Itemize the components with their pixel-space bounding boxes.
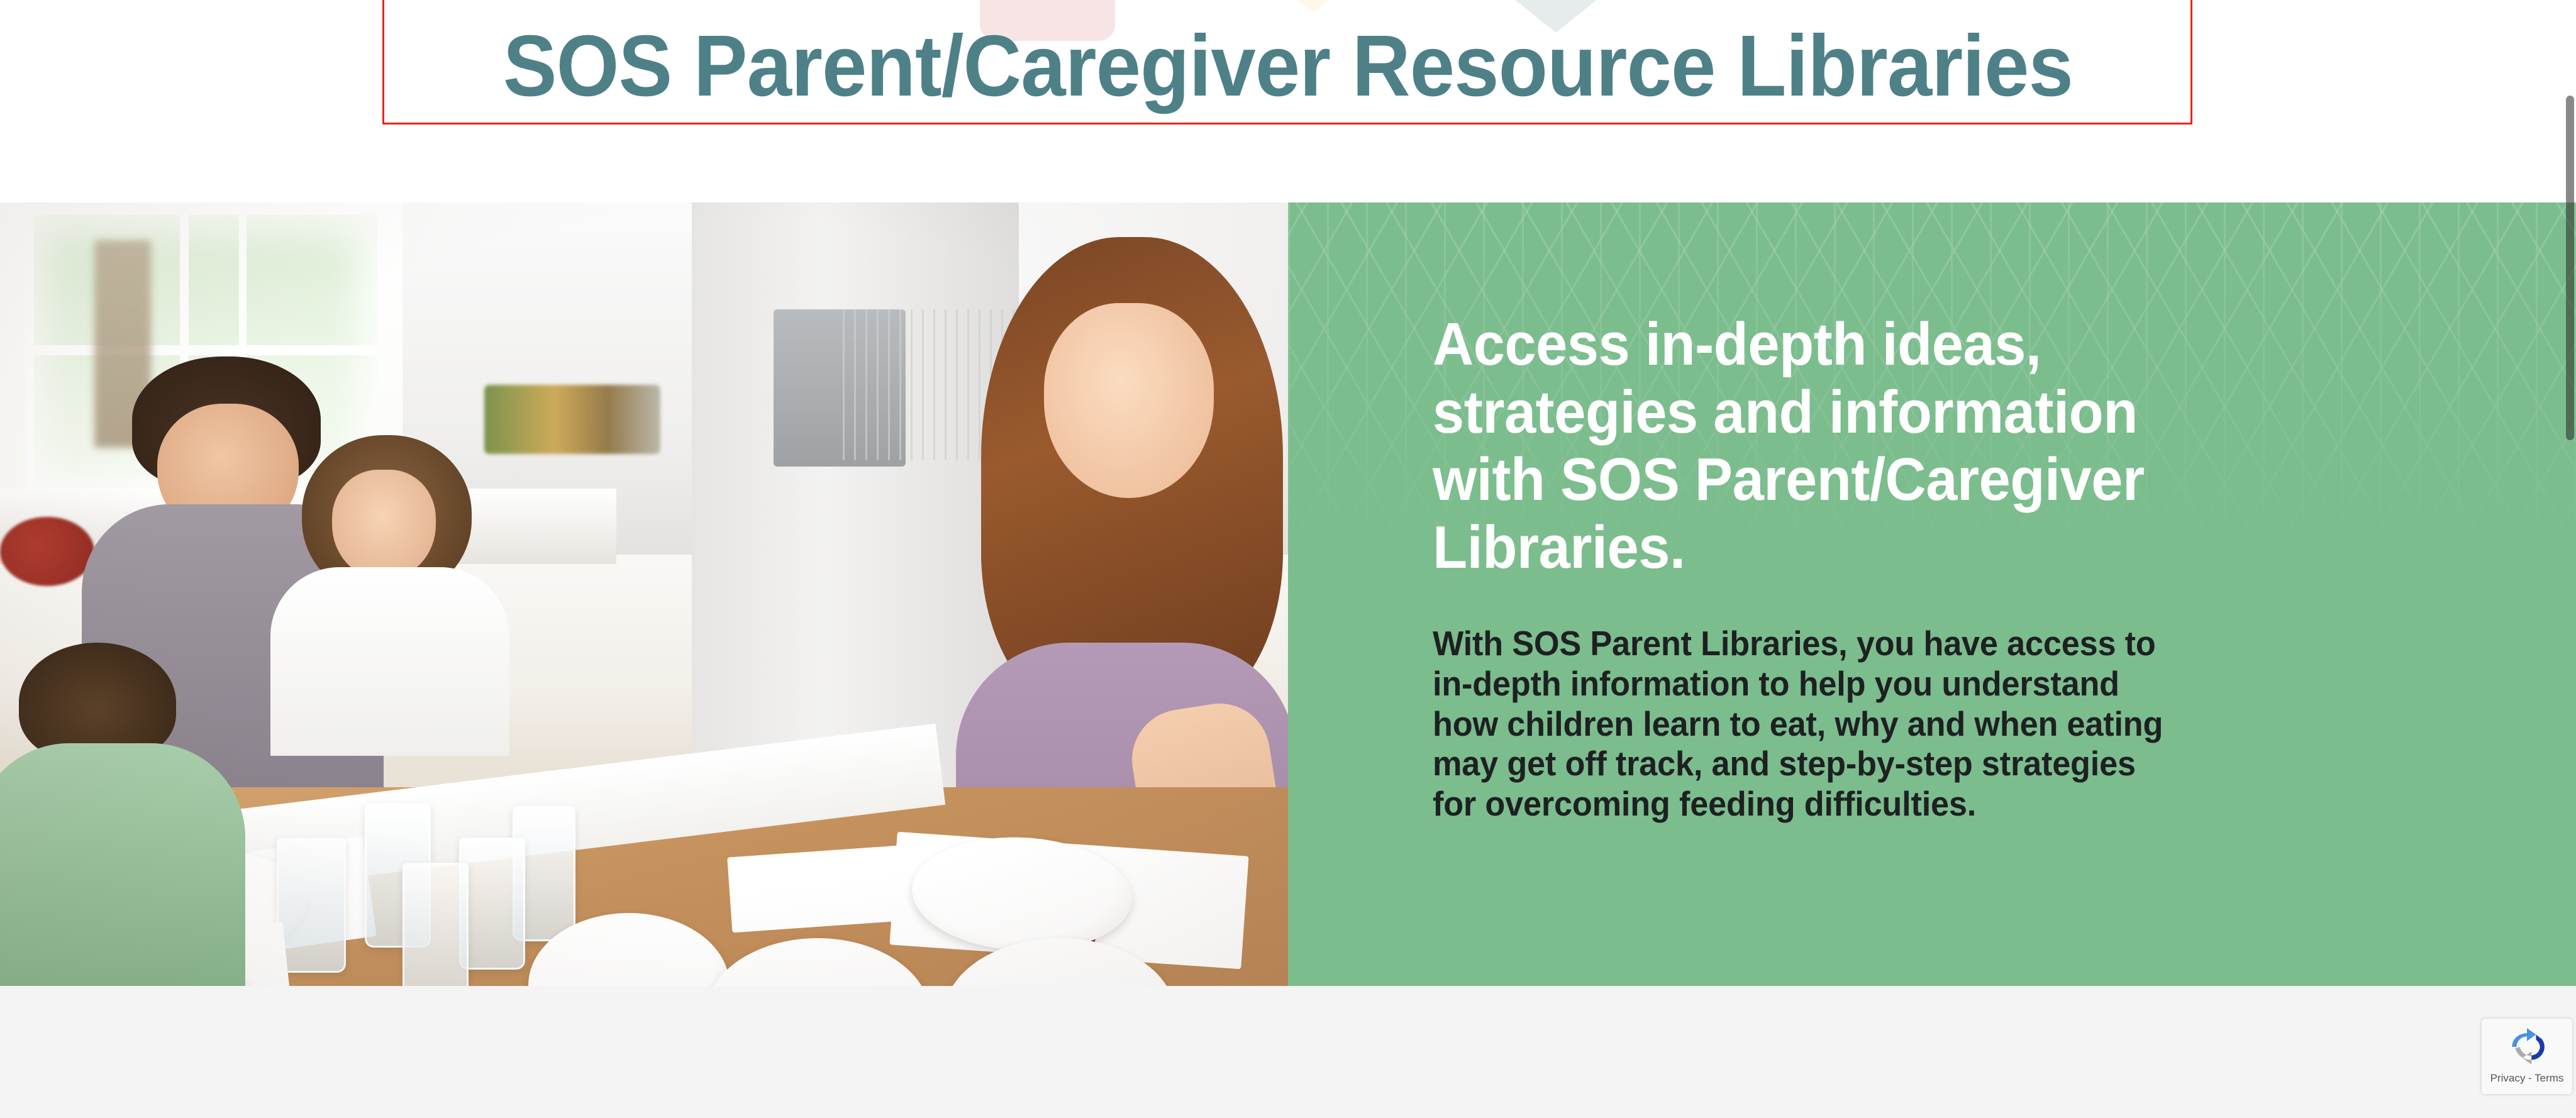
hero-green-panel: Access in-depth ideas, strategies and in… bbox=[1288, 202, 2576, 986]
panel-content: Access in-depth ideas, strategies and in… bbox=[1433, 311, 2275, 824]
recaptcha-badge[interactable]: Privacy - Terms bbox=[2482, 1019, 2572, 1094]
hero-section: Access in-depth ideas, strategies and in… bbox=[0, 202, 2576, 986]
page-root: SOS Parent/Caregiver Resource Libraries bbox=[0, 0, 2576, 1118]
recaptcha-icon bbox=[2506, 1028, 2548, 1070]
panel-body-text: With SOS Parent Libraries, you have acce… bbox=[1433, 624, 2168, 824]
hero-photo bbox=[0, 202, 1288, 986]
scrollbar-thumb[interactable] bbox=[2566, 96, 2574, 440]
photo-vignette bbox=[0, 202, 1288, 986]
below-hero-area bbox=[0, 986, 2576, 1118]
page-title-area: SOS Parent/Caregiver Resource Libraries bbox=[0, 0, 2576, 132]
recaptcha-privacy-terms[interactable]: Privacy - Terms bbox=[2490, 1072, 2564, 1085]
page-title: SOS Parent/Caregiver Resource Libraries bbox=[503, 23, 2073, 109]
panel-heading: Access in-depth ideas, strategies and in… bbox=[1433, 311, 2225, 581]
page-scrollbar[interactable] bbox=[2566, 0, 2576, 1118]
